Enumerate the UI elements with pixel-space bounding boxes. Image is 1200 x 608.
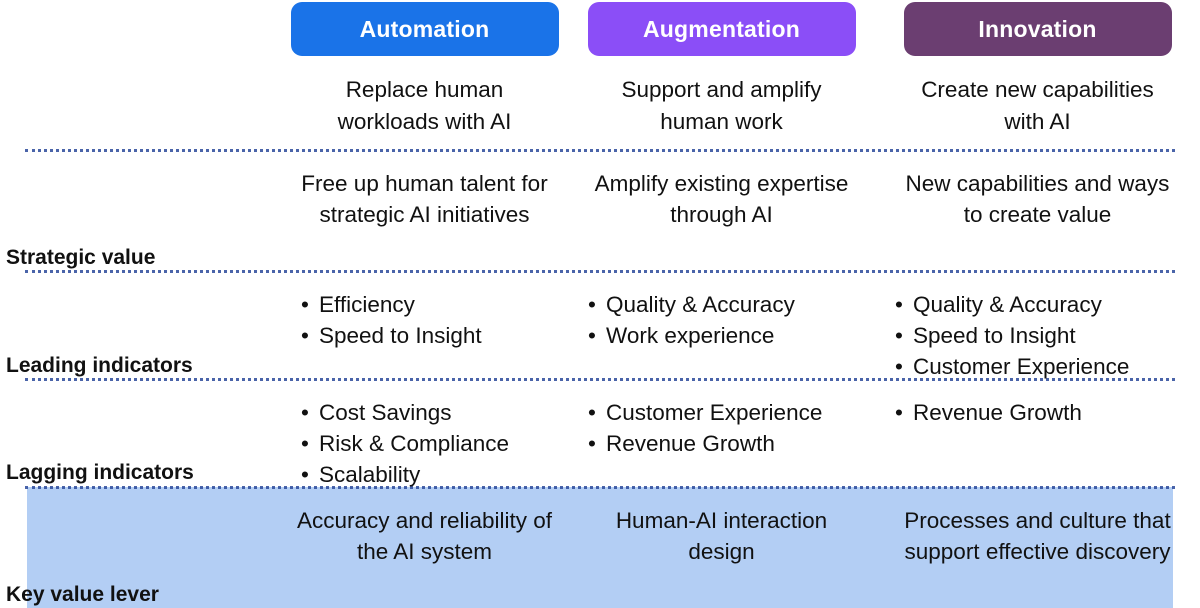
bullet-item: •Scalability: [299, 459, 509, 490]
augmentation-pill: Augmentation: [588, 2, 856, 56]
cell-leading-indicators-innovation: •Quality & Accuracy•Speed to Insight•Cus…: [875, 271, 1200, 379]
bullet-list: •Quality & Accuracy•Work experience: [586, 289, 795, 351]
augmentation-subtitle: Support and amplify human work: [591, 74, 853, 138]
bullet-item: •Quality & Accuracy: [586, 289, 795, 320]
bullet-item-label: Speed to Insight: [913, 323, 1076, 348]
bullet-item: •Speed to Insight: [299, 320, 482, 351]
bullet-item: •Efficiency: [299, 289, 482, 320]
bullet-item-label: Customer Experience: [606, 400, 822, 425]
bullet-item: •Revenue Growth: [893, 397, 1082, 428]
bullet-dot-icon: •: [895, 320, 903, 351]
innovation-subtitle: Create new capabilities with AI: [907, 74, 1169, 138]
row-label-strategic-value: Strategic value: [0, 150, 281, 271]
bullet-item-label: Quality & Accuracy: [606, 292, 795, 317]
bullet-item-label: Revenue Growth: [913, 400, 1082, 425]
automation-pill-label: Automation: [360, 18, 490, 41]
cell-lagging-indicators-automation: •Cost Savings•Risk & Compliance•Scalabil…: [281, 379, 568, 486]
row-label-text: Key value lever: [6, 581, 159, 608]
cell-strategic-value-automation: Free up human talent for strategic AI in…: [281, 150, 568, 271]
cell-strategic-value-augmentation: Amplify existing expertise through AI: [568, 150, 875, 271]
augmentation-pill-label: Augmentation: [643, 18, 800, 41]
cell-key-value-lever-augmentation: Human-AI interaction design: [568, 486, 875, 608]
bullet-dot-icon: •: [588, 428, 596, 459]
comparison-table-page: Automation Replace human workloads with …: [0, 0, 1200, 608]
innovation-pill: Innovation: [904, 2, 1172, 56]
innovation-pill-label: Innovation: [978, 18, 1096, 41]
bullet-dot-icon: •: [301, 428, 309, 459]
bullet-item: •Customer Experience: [893, 351, 1129, 382]
row-label-text: Lagging indicators: [6, 459, 194, 486]
bullet-dot-icon: •: [588, 320, 596, 351]
bullet-dot-icon: •: [301, 320, 309, 351]
bullet-item: •Customer Experience: [586, 397, 822, 428]
cell-text: Free up human talent for strategic AI in…: [290, 169, 560, 230]
bullet-item: •Cost Savings: [299, 397, 509, 428]
cell-strategic-value-innovation: New capabilities and ways to create valu…: [875, 150, 1200, 271]
bullet-dot-icon: •: [301, 459, 309, 490]
bullet-dot-icon: •: [895, 397, 903, 428]
bullet-item-label: Scalability: [319, 462, 420, 487]
row-label-lagging-indicators: Lagging indicators: [0, 379, 281, 486]
bullet-item: •Work experience: [586, 320, 795, 351]
bullet-list: •Revenue Growth: [893, 397, 1082, 428]
bullet-dot-icon: •: [588, 289, 596, 320]
bullet-item: •Revenue Growth: [586, 428, 822, 459]
bullet-item-label: Revenue Growth: [606, 431, 775, 456]
header-corner-empty: [0, 0, 281, 150]
bullet-dot-icon: •: [895, 351, 903, 382]
automation-pill: Automation: [291, 2, 559, 56]
bullet-item-label: Efficiency: [319, 292, 415, 317]
comparison-table: Automation Replace human workloads with …: [0, 0, 1200, 608]
bullet-item-label: Quality & Accuracy: [913, 292, 1102, 317]
cell-key-value-lever-automation: Accuracy and reliability of the AI syste…: [281, 486, 568, 608]
row-label-key-value-lever: Key value lever: [0, 486, 281, 608]
cell-lagging-indicators-innovation: •Revenue Growth: [875, 379, 1200, 486]
row-label-text: Leading indicators: [6, 352, 193, 379]
cell-leading-indicators-augmentation: •Quality & Accuracy•Work experience: [568, 271, 875, 379]
cell-lagging-indicators-augmentation: •Customer Experience•Revenue Growth: [568, 379, 875, 486]
cell-text: Accuracy and reliability of the AI syste…: [290, 506, 560, 567]
cell-text: Processes and culture that support effec…: [903, 506, 1173, 567]
bullet-list: •Cost Savings•Risk & Compliance•Scalabil…: [299, 397, 509, 490]
bullet-dot-icon: •: [301, 289, 309, 320]
column-header-innovation: Innovation Create new capabilities with …: [875, 0, 1200, 150]
bullet-item-label: Customer Experience: [913, 354, 1129, 379]
column-header-automation: Automation Replace human workloads with …: [281, 0, 568, 150]
automation-subtitle: Replace human workloads with AI: [294, 74, 556, 138]
cell-text: New capabilities and ways to create valu…: [903, 169, 1173, 230]
bullet-item-label: Speed to Insight: [319, 323, 482, 348]
bullet-list: •Customer Experience•Revenue Growth: [586, 397, 822, 459]
bullet-dot-icon: •: [895, 289, 903, 320]
bullet-list: •Quality & Accuracy•Speed to Insight•Cus…: [893, 289, 1129, 382]
bullet-item: •Speed to Insight: [893, 320, 1129, 351]
bullet-item-label: Cost Savings: [319, 400, 452, 425]
row-label-leading-indicators: Leading indicators: [0, 271, 281, 379]
row-label-text: Strategic value: [6, 244, 155, 271]
bullet-list: •Efficiency•Speed to Insight: [299, 289, 482, 351]
bullet-item: •Risk & Compliance: [299, 428, 509, 459]
cell-leading-indicators-automation: •Efficiency•Speed to Insight: [281, 271, 568, 379]
bullet-item-label: Risk & Compliance: [319, 431, 509, 456]
bullet-dot-icon: •: [301, 397, 309, 428]
cell-key-value-lever-innovation: Processes and culture that support effec…: [875, 486, 1200, 608]
bullet-dot-icon: •: [588, 397, 596, 428]
cell-text: Amplify existing expertise through AI: [587, 169, 857, 230]
bullet-item-label: Work experience: [606, 323, 774, 348]
cell-text: Human-AI interaction design: [587, 506, 857, 567]
column-header-augmentation: Augmentation Support and amplify human w…: [568, 0, 875, 150]
bullet-item: •Quality & Accuracy: [893, 289, 1129, 320]
